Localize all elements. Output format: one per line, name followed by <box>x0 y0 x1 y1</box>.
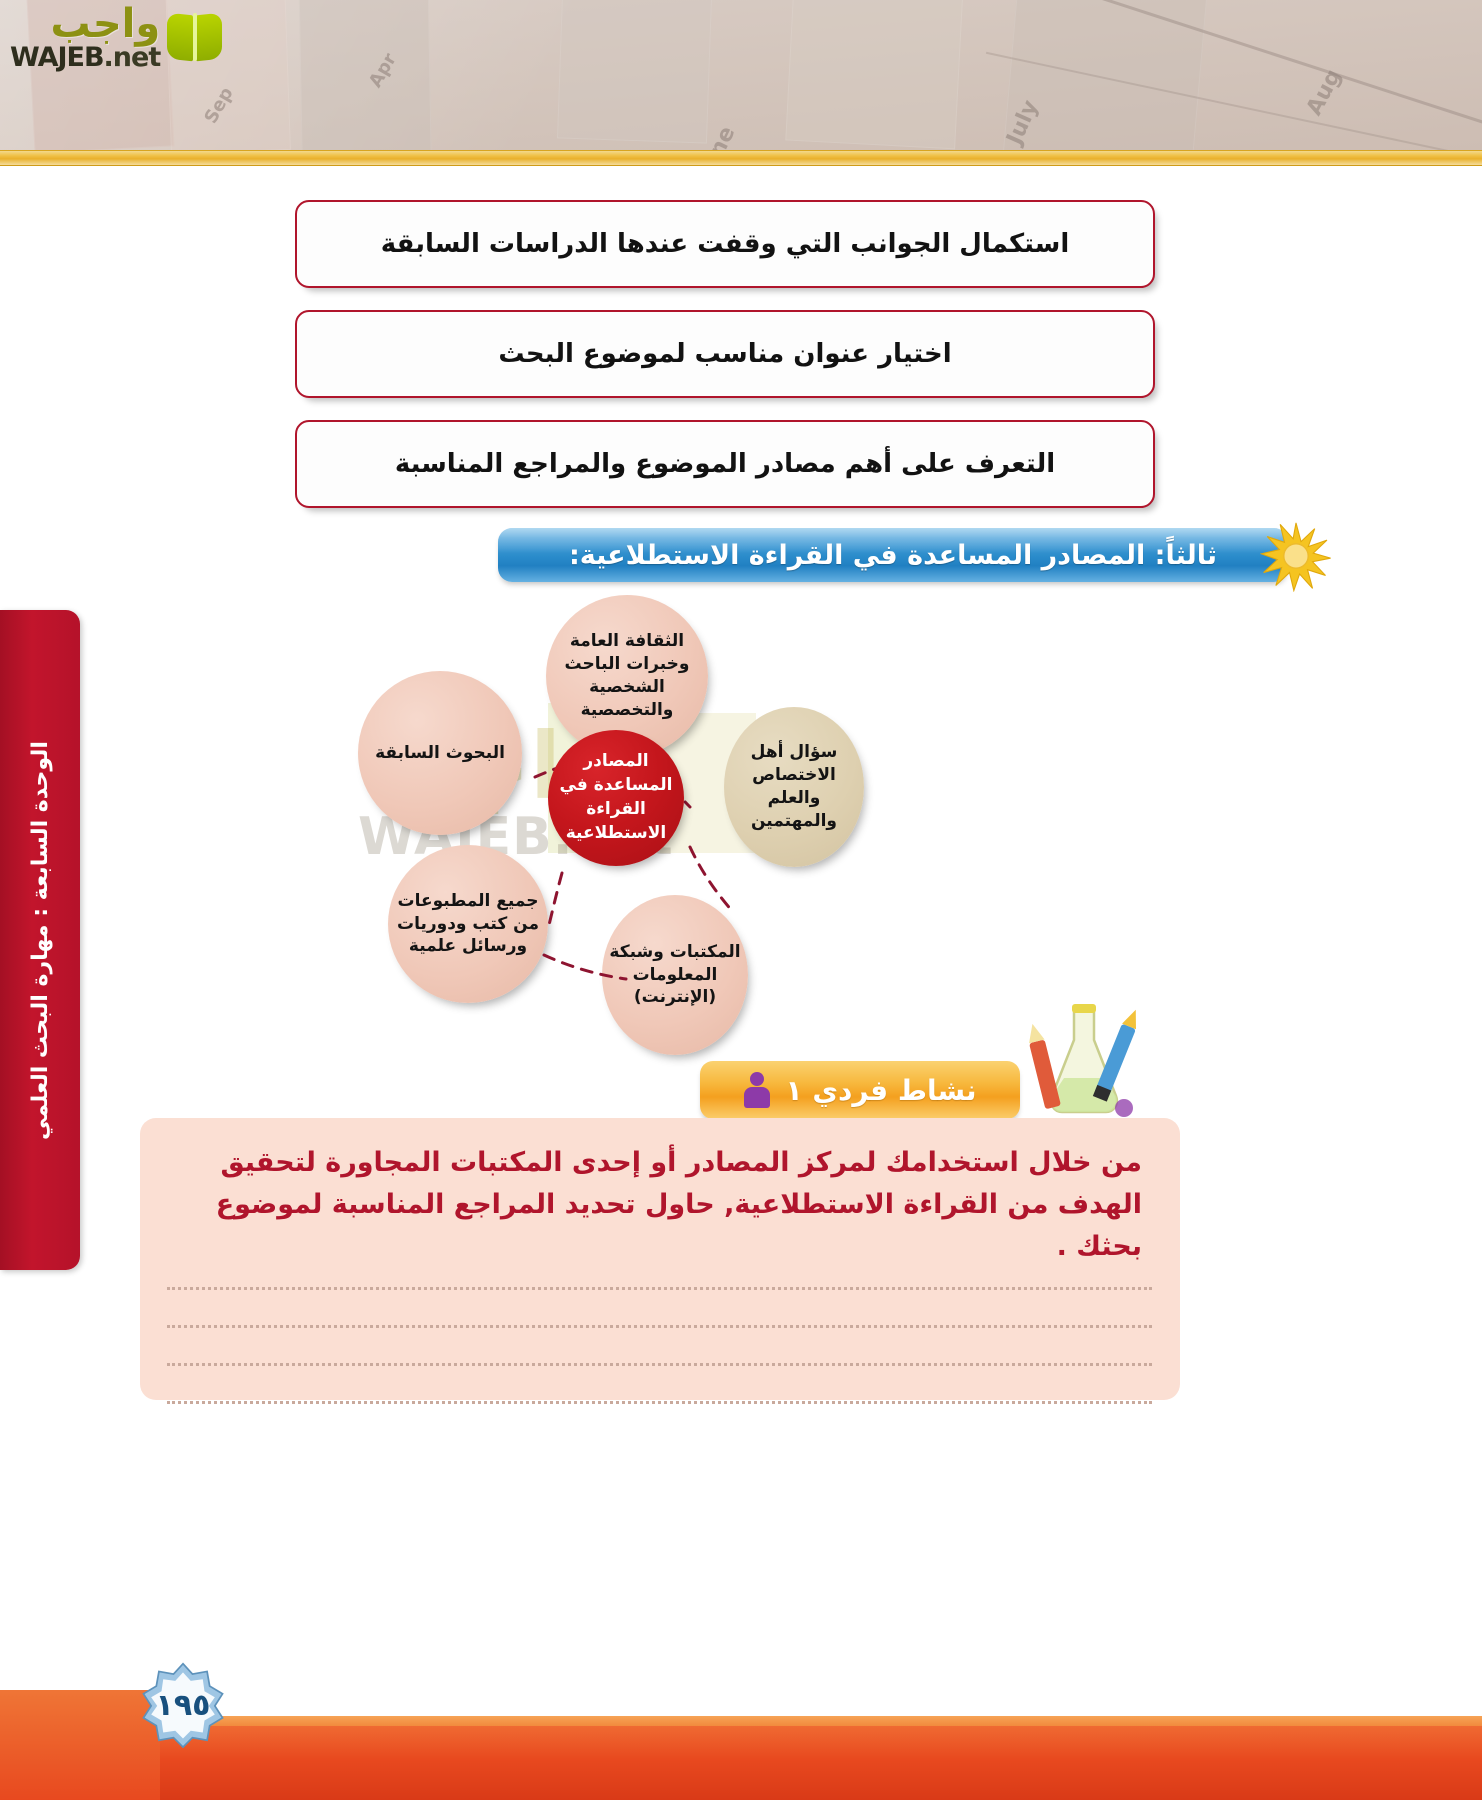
unit-side-tab: الوحدة السابعة : مهارة البحث العلمي <box>0 610 80 1270</box>
wajeb-logo-text: واجب WAJEB.net <box>10 4 160 72</box>
activity-answer-area[interactable] <box>167 1252 1152 1404</box>
person-icon <box>744 1072 770 1108</box>
header-photo-band: June July Aug Apr Sep واجب WAJEB.net <box>0 0 1482 150</box>
objective-box-list: استكمال الجوانب التي وقفت عندها الدراسات… <box>295 200 1155 530</box>
activity-badge: نشاط فردي ١ <box>700 1061 1020 1119</box>
objective-box: اختيار عنوان مناسب لموضوع البحث <box>295 310 1155 398</box>
section-banner: ثالثاً: المصادر المساعدة في القراءة الاس… <box>498 528 1288 582</box>
wajeb-logo-arabic: واجب <box>51 4 161 44</box>
diagram-node-center: المصادر المساعدة في القراءة الاستطلاعية <box>548 730 684 866</box>
activity-badge-label: نشاط فردي ١ <box>786 1074 977 1107</box>
textbook-page: June July Aug Apr Sep واجب WAJEB.net الو… <box>0 0 1482 1800</box>
objective-box-text: اختيار عنوان مناسب لموضوع البحث <box>498 339 951 369</box>
gold-divider-bar <box>0 150 1482 166</box>
footer-corner-block <box>0 1690 160 1800</box>
starburst-icon <box>1260 520 1332 592</box>
page-footer: ١٩٥ <box>0 1690 1482 1800</box>
open-book-icon <box>166 10 224 66</box>
science-tools-icon <box>1020 1000 1150 1130</box>
wajeb-logo[interactable]: واجب WAJEB.net <box>8 4 224 72</box>
objective-box: التعرف على أهم مصادر الموضوع والمراجع ال… <box>295 420 1155 508</box>
activity-answer-line[interactable] <box>167 1328 1152 1366</box>
connector-to-prints <box>548 873 562 929</box>
connector-to-experts <box>690 847 734 913</box>
header-paper-shape <box>785 0 964 149</box>
unit-side-tab-label: الوحدة السابعة : مهارة البحث العلمي <box>28 741 53 1140</box>
header-month-word: Aug <box>1302 65 1347 120</box>
objective-box-text: التعرف على أهم مصادر الموضوع والمراجع ال… <box>395 449 1055 479</box>
header-paper-shape <box>298 0 431 150</box>
page-number: ١٩٥ <box>140 1662 226 1748</box>
activity-answer-line[interactable] <box>167 1290 1152 1328</box>
activity-answer-line[interactable] <box>167 1252 1152 1290</box>
objective-box: استكمال الجوانب التي وقفت عندها الدراسات… <box>295 200 1155 288</box>
activity-answer-line[interactable] <box>167 1366 1152 1404</box>
diagram-center-label: المصادر المساعدة في القراءة الاستطلاعية <box>554 750 678 845</box>
connector-to-libraries <box>544 955 626 979</box>
objective-box-text: استكمال الجوانب التي وقفت عندها الدراسات… <box>381 229 1070 259</box>
section-banner-title: ثالثاً: المصادر المساعدة في القراءة الاس… <box>569 540 1217 571</box>
header-paper-shape <box>557 0 713 144</box>
wajeb-logo-latin: WAJEB.net <box>10 44 160 72</box>
activity-question: من خلال استخدامك لمركز المصادر أو إحدى ا… <box>182 1142 1142 1268</box>
sources-circle-diagram: واجب WAJEB.net الثقافة العامة وخبرات الب… <box>330 595 950 1065</box>
activity-panel: من خلال استخدامك لمركز المصادر أو إحدى ا… <box>140 1118 1180 1400</box>
section-banner-wrap: ثالثاً: المصادر المساعدة في القراءة الاس… <box>478 528 1328 584</box>
